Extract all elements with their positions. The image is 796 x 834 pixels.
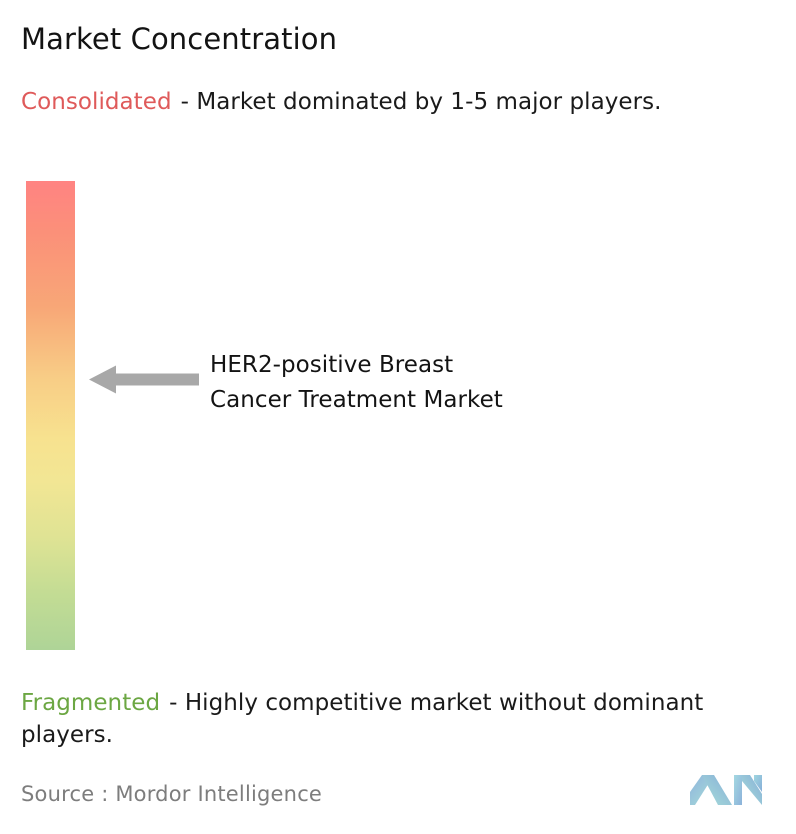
source-attribution: Source : Mordor Intelligence bbox=[21, 780, 322, 808]
market-label-line-2: Cancer Treatment Market bbox=[210, 383, 630, 418]
market-pointer-arrow bbox=[89, 365, 199, 394]
legend-fragmented-keyword: Fragmented bbox=[21, 690, 160, 716]
concentration-scale-bar bbox=[26, 181, 75, 650]
market-label: HER2-positive Breast Cancer Treatment Ma… bbox=[210, 348, 630, 418]
legend-consolidated: Consolidated- Market dominated by 1-5 ma… bbox=[21, 86, 781, 118]
chart-canvas: Market Concentration Consolidated- Marke… bbox=[0, 0, 796, 834]
mordor-intelligence-logo-icon bbox=[688, 772, 764, 810]
page-title: Market Concentration bbox=[21, 21, 337, 57]
market-label-line-1: HER2-positive Breast bbox=[210, 348, 630, 383]
legend-fragmented: Fragmented- Highly competitive market wi… bbox=[21, 687, 796, 751]
logo-mark bbox=[688, 772, 764, 810]
legend-consolidated-description: - Market dominated by 1-5 major players. bbox=[181, 89, 662, 115]
arrow-left-icon bbox=[89, 365, 199, 394]
legend-consolidated-keyword: Consolidated bbox=[21, 89, 172, 115]
